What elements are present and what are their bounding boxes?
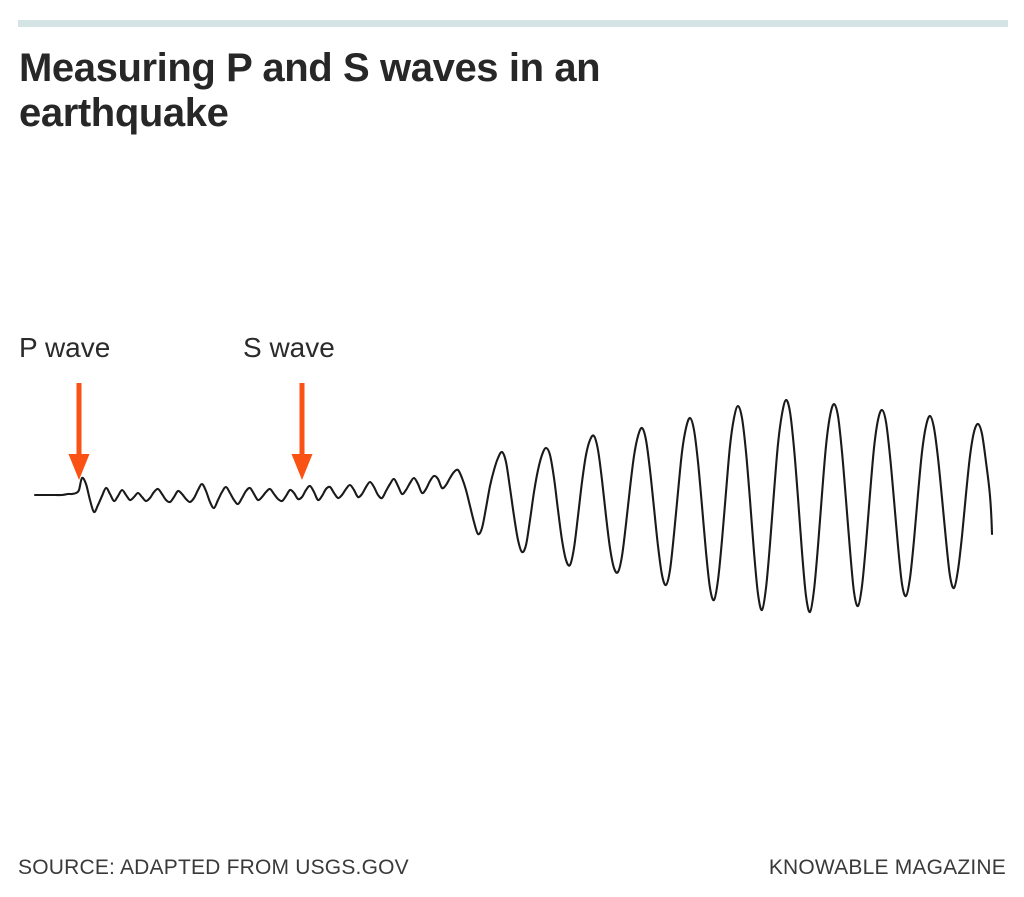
top-rule-divider: [18, 20, 1008, 27]
s-wave-label: S wave: [243, 332, 335, 364]
page-title: Measuring P and S waves in an earthquake: [19, 46, 799, 136]
source-credit: SOURCE: ADAPTED FROM USGS.GOV: [18, 856, 409, 880]
infographic-figure: Measuring P and S waves in an earthquake…: [0, 0, 1024, 897]
seismogram-trace: [35, 400, 992, 612]
publisher-credit: KNOWABLE MAGAZINE: [769, 856, 1006, 880]
s-wave-arrow-icon: [292, 383, 313, 480]
p-wave-arrow-icon: [69, 383, 90, 480]
p-wave-label: P wave: [19, 332, 110, 364]
figure-footer: SOURCE: ADAPTED FROM USGS.GOV KNOWABLE M…: [18, 856, 1006, 882]
arrow-annotation-layer: [69, 383, 313, 480]
